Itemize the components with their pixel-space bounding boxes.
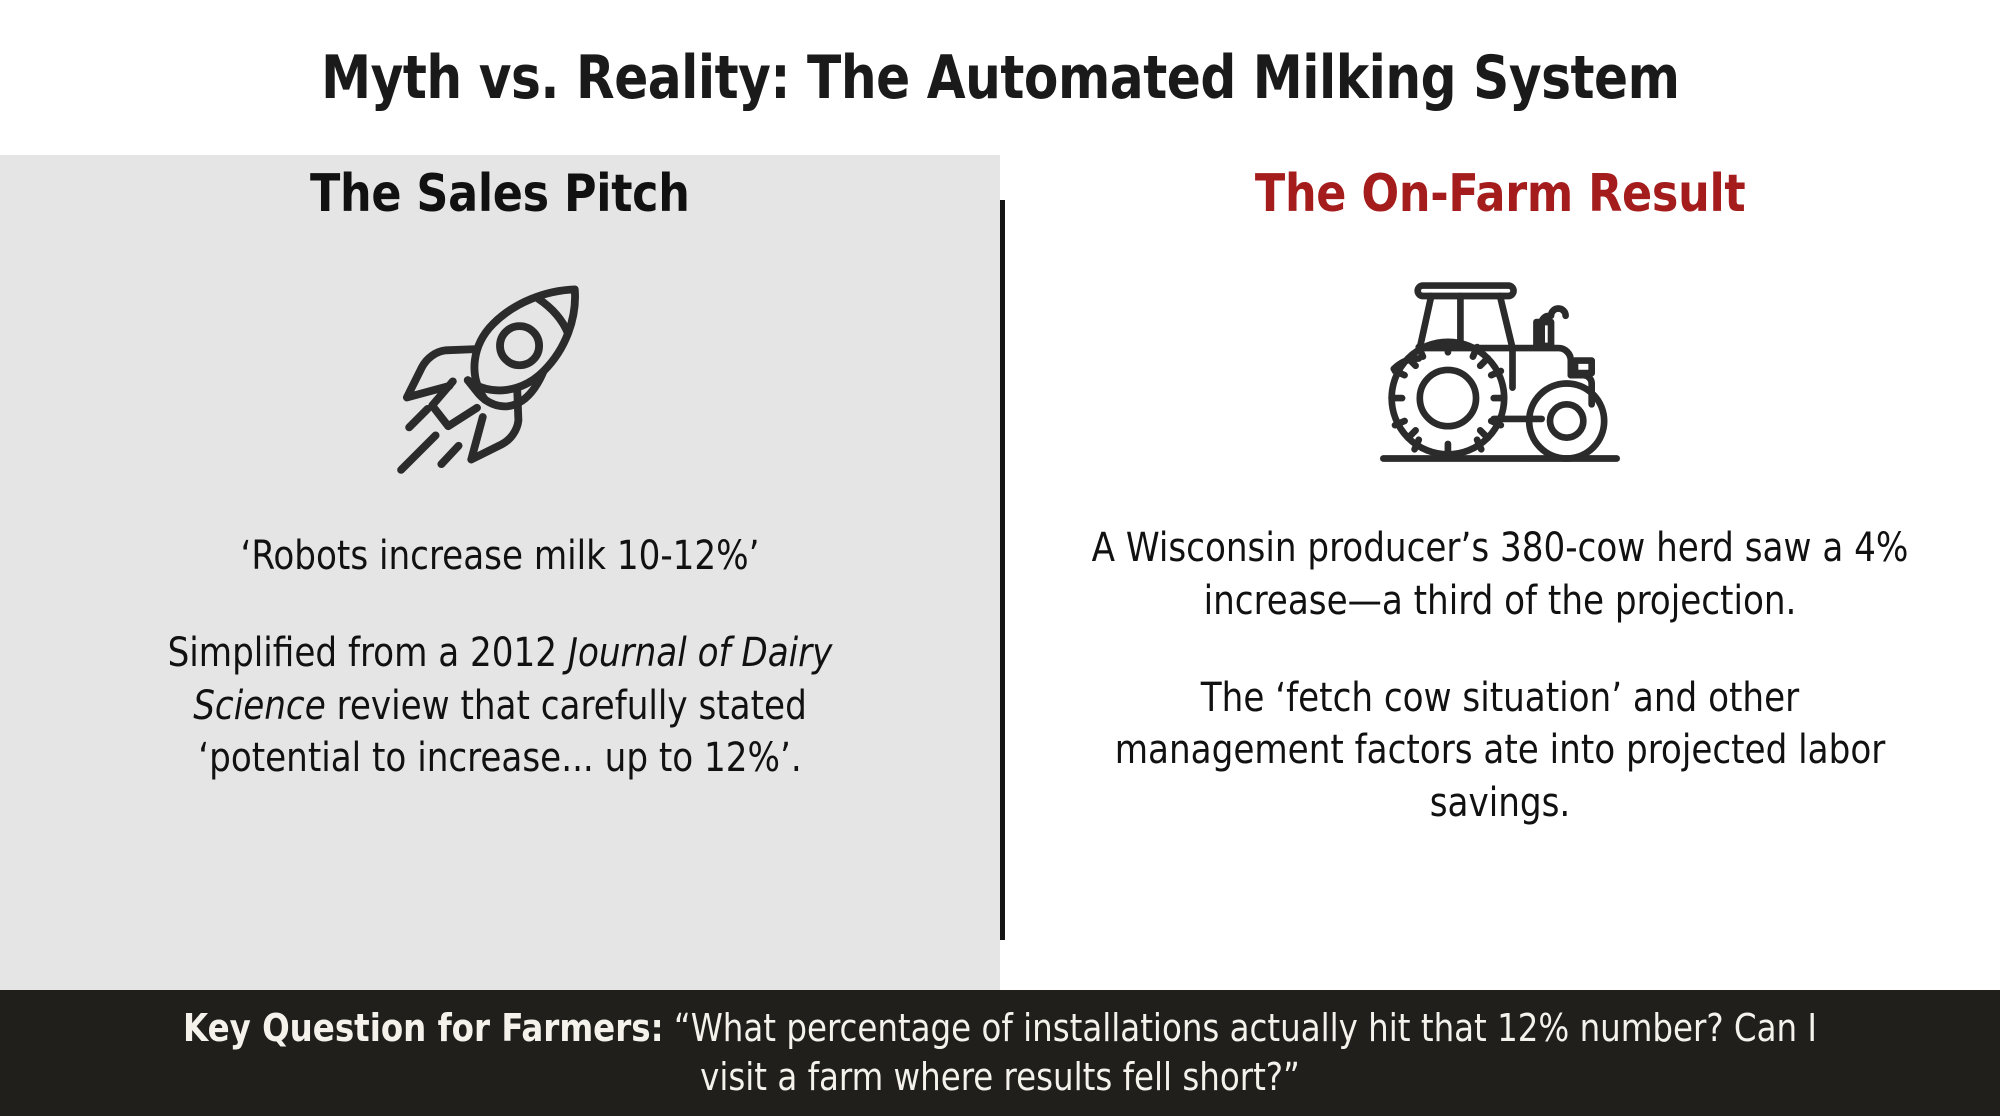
tractor-icon — [1375, 246, 1625, 496]
slide-root: Myth vs. Reality: The Automated Milking … — [0, 0, 2000, 1116]
column-divider — [1000, 200, 1005, 940]
right-column-header: The On-Farm Result — [1255, 164, 1745, 224]
left-column-sales-pitch: The Sales Pitch — [0, 155, 1000, 990]
left-claim-text: ‘Robots increase milk 10-12%’ — [120, 530, 880, 583]
right-column-on-farm-result: The On-Farm Result — [1000, 155, 2000, 990]
left-column-body: ‘Robots increase milk 10-12%’ Simplified… — [120, 530, 880, 785]
left-source-text: Simplified from a 2012 Journal of Dairy … — [120, 627, 880, 785]
footer-question: Key Question for Farmers: “What percenta… — [174, 1004, 1827, 1103]
rocket-icon — [385, 246, 615, 496]
comparison-columns: The Sales Pitch — [0, 155, 2000, 990]
footer-lead-label: Key Question for Farmers: — [183, 1006, 664, 1050]
right-column-body: A Wisconsin producer’s 380-cow herd saw … — [1082, 522, 1918, 830]
left-column-header: The Sales Pitch — [310, 164, 690, 224]
footer-band: Key Question for Farmers: “What percenta… — [0, 990, 2000, 1116]
right-result-text: A Wisconsin producer’s 380-cow herd saw … — [1082, 522, 1918, 628]
footer-question-text: “What percentage of installations actual… — [664, 1006, 1817, 1099]
title-band: Myth vs. Reality: The Automated Milking … — [0, 0, 2000, 155]
right-explanation-text: The ‘fetch cow situation’ and other mana… — [1082, 672, 1918, 830]
page-title: Myth vs. Reality: The Automated Milking … — [321, 43, 1679, 113]
left-source-prefix: Simplified from a 2012 — [168, 630, 568, 676]
